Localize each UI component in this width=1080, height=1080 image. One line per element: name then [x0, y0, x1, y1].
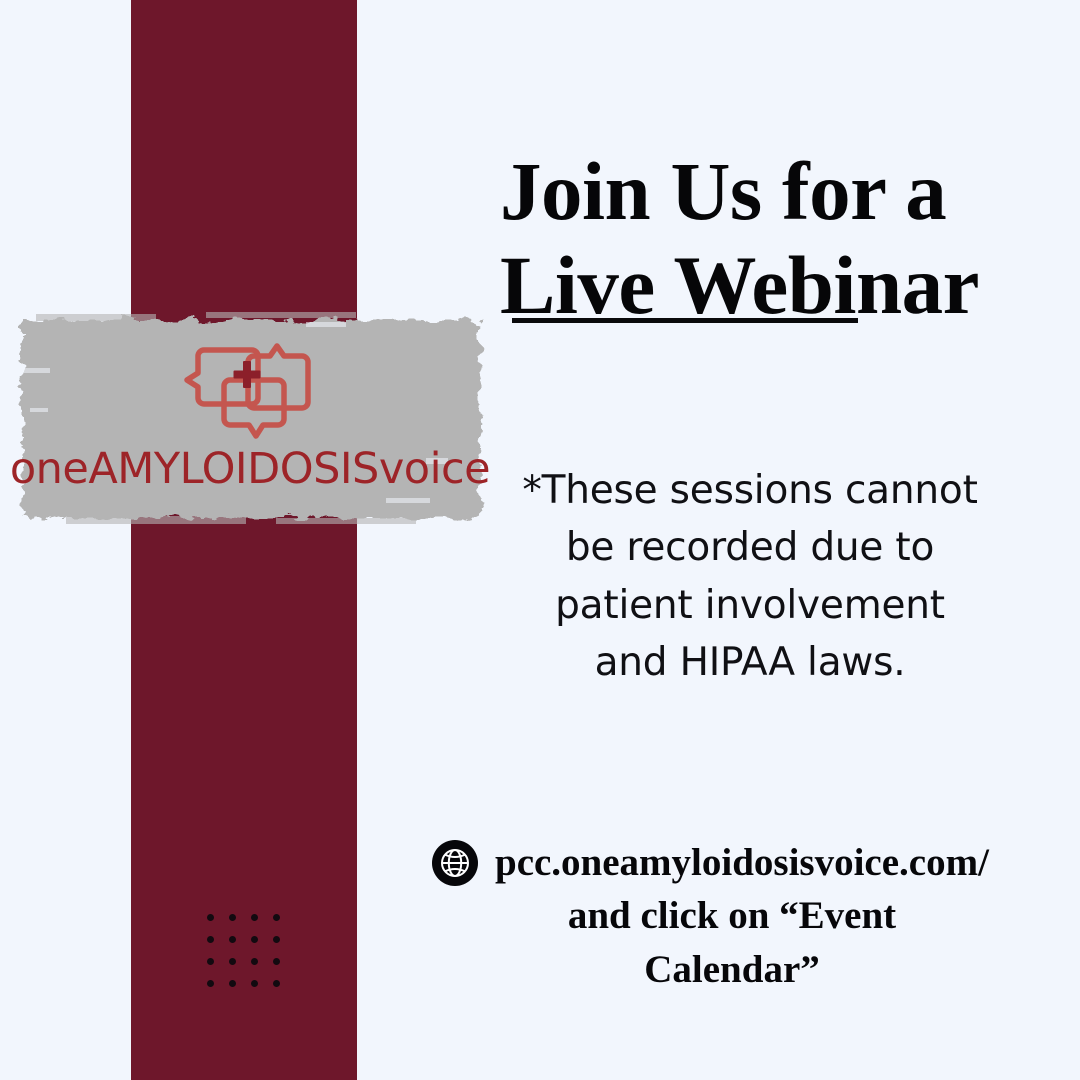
- grid-dot: [207, 936, 214, 943]
- grid-dot: [273, 936, 280, 943]
- headline-line-1: Join Us for a: [500, 144, 1030, 239]
- website-url-text[interactable]: pcc.oneamyloidosisvoice.com/: [495, 836, 989, 889]
- organization-logo: oneAMYLOIDOSISvoice: [6, 308, 494, 530]
- disclaimer-line-1: *These sessions cannot: [490, 462, 1010, 519]
- grid-dot: [273, 980, 280, 987]
- callout-line-2: and click on “Event: [432, 889, 1032, 942]
- globe-icon: [432, 840, 478, 886]
- divider-rule: [512, 318, 858, 323]
- grid-dot: [251, 958, 258, 965]
- disclaimer-line-2: be recorded due to: [490, 519, 1010, 576]
- page-title: Join Us for a Live Webinar: [500, 144, 1030, 333]
- grid-dot: [207, 958, 214, 965]
- grid-dot: [207, 914, 214, 921]
- disclaimer-line-3: patient involvement: [490, 577, 1010, 634]
- grid-dot: [229, 980, 236, 987]
- grid-dot: [229, 914, 236, 921]
- grid-dot: [229, 936, 236, 943]
- grid-dot: [251, 980, 258, 987]
- disclaimer-line-4: and HIPAA laws.: [490, 634, 1010, 691]
- poster-canvas: oneAMYLOIDOSISvoice Join Us for a Live W…: [0, 0, 1080, 1080]
- dot-grid-decoration: [207, 914, 295, 1002]
- grid-dot: [273, 914, 280, 921]
- grid-dot: [207, 980, 214, 987]
- callout-line-3: Calendar”: [432, 943, 1032, 996]
- logo-wordmark: oneAMYLOIDOSISvoice: [10, 448, 490, 491]
- speech-bubbles-plus-logo-icon: [184, 338, 316, 442]
- disclaimer-text: *These sessions cannot be recorded due t…: [490, 462, 1010, 691]
- grid-dot: [229, 958, 236, 965]
- website-url-row[interactable]: pcc.oneamyloidosisvoice.com/: [432, 836, 1032, 889]
- grid-dot: [251, 936, 258, 943]
- grid-dot: [273, 958, 280, 965]
- website-callout[interactable]: pcc.oneamyloidosisvoice.com/ and click o…: [432, 836, 1032, 996]
- grid-dot: [251, 914, 258, 921]
